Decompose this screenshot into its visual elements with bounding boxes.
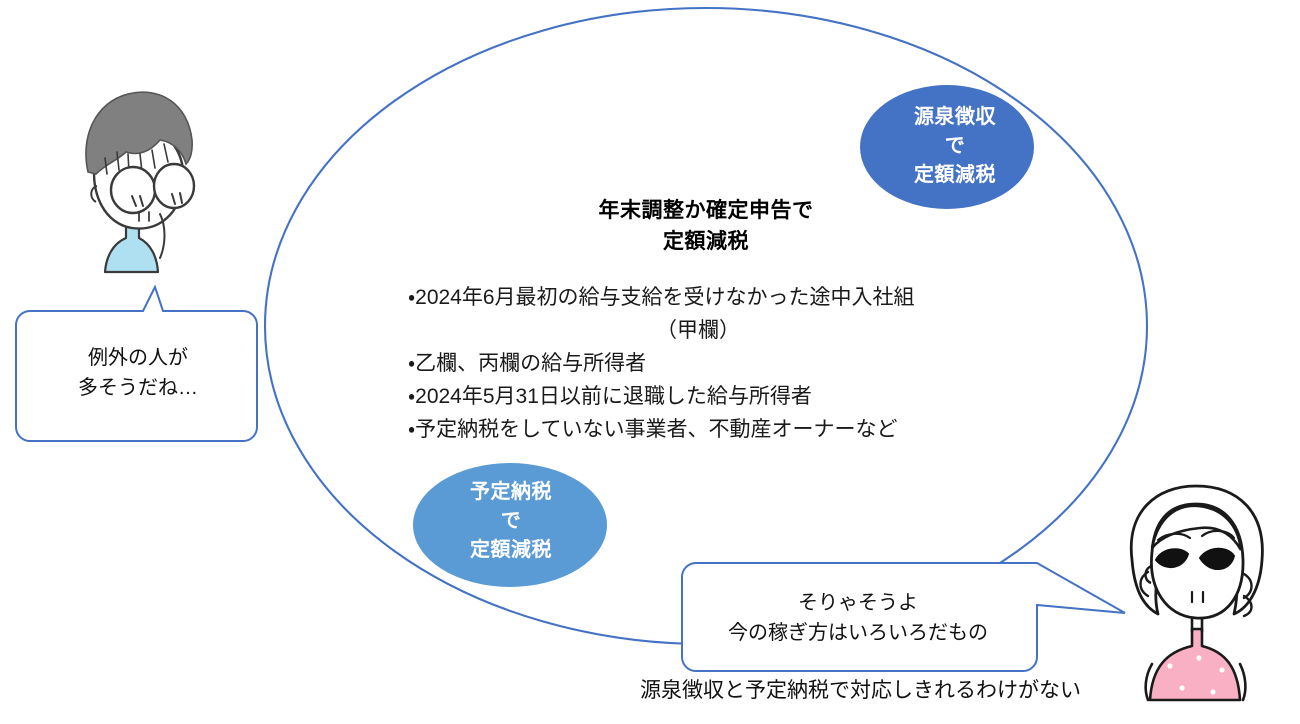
list-item: ・乙欄、丙欄の給与所得者: [408, 347, 1028, 380]
boy-shirt: [105, 222, 158, 272]
boy-nose: [139, 212, 149, 221]
boy-ear: [91, 186, 97, 202]
speech-bubble-left-text: 例外の人が 多そうだね…: [22, 343, 254, 403]
girl-neck: [1192, 618, 1202, 632]
girl-hair-back: [1131, 486, 1262, 614]
girl-nose: [1192, 592, 1203, 602]
boy-pupil-right: [172, 193, 182, 204]
badge-yotei-label: 予定納税 で 定額減税: [423, 478, 599, 565]
girl-ear: [1145, 566, 1152, 583]
boy-head: [94, 125, 183, 228]
girl-eyebrows: [1158, 531, 1234, 540]
boy-pupil-left: [132, 196, 143, 206]
girl-bangs: [1152, 506, 1241, 550]
list-item: （甲欄）: [408, 314, 1028, 347]
badge-genzen-label: 源泉徴収 で 定額減税: [860, 103, 1050, 190]
girl-eye-left: [1156, 549, 1188, 567]
boy-mouth: [160, 214, 165, 258]
speech-bubble-right-text: そりゃそうよ 今の稼ぎ方はいろいろだもの: [684, 588, 1032, 648]
list-item: ・2024年5月31日以前に退職した給与所得者: [408, 380, 1028, 413]
bottom-caption: 源泉徴収と予定納税で対応しきれるわけがない: [640, 676, 1260, 706]
girl-hair-waves: [1141, 572, 1252, 616]
girl-eye-right: [1200, 549, 1234, 569]
boy-character-illustration: [86, 92, 194, 272]
boy-eye-right: [154, 164, 194, 208]
exception-list: ・2024年6月最初の給与支給を受けなかった途中入社組 （甲欄） ・乙欄、丙欄の…: [408, 281, 1028, 446]
boy-hair: [86, 92, 192, 174]
list-item: ・予定納税をしていない事業者、不動産オーナーなど: [408, 413, 1028, 446]
slide-canvas: 年末調整か確定申告で 定額減税 ・2024年6月最初の給与支給を受けなかった途中…: [0, 0, 1300, 724]
girl-character-illustration: [1131, 486, 1262, 700]
boy-eye-left: [111, 167, 155, 213]
list-item: ・2024年6月最初の給与支給を受けなかった途中入社組: [408, 281, 1028, 314]
page-title: 年末調整か確定申告で 定額減税: [486, 195, 926, 257]
boy-hair-strands: [105, 144, 168, 174]
girl-face: [1151, 504, 1243, 618]
